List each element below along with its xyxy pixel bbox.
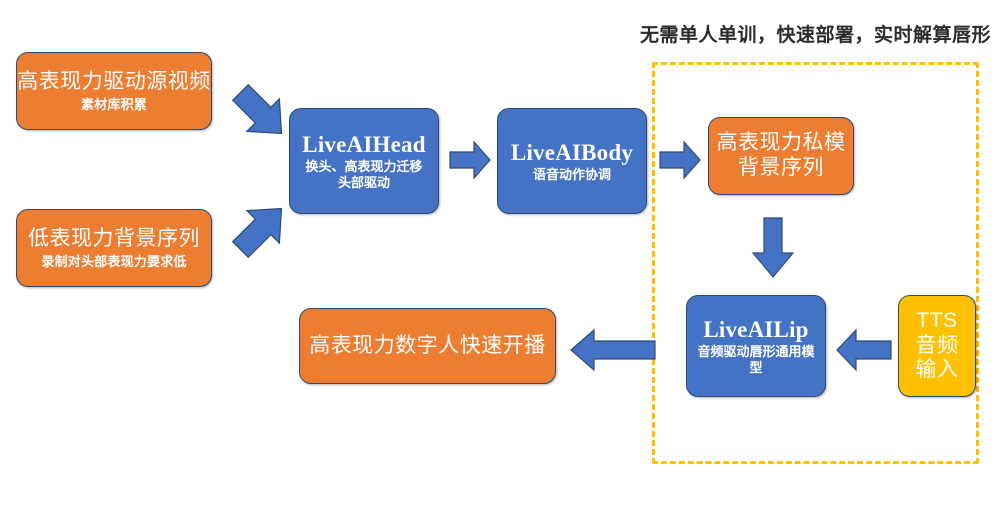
arrow-left-icon-lip-to-output	[570, 327, 656, 373]
node-liveaihead-title: LiveAIHead	[302, 131, 425, 158]
node-source-video-title: 高表现力驱动源视频	[17, 70, 211, 95]
node-tts-audio-input[interactable]: TTS音频输入	[898, 295, 976, 397]
node-fast-live-output[interactable]: 高表现力数字人快速开播	[299, 308, 556, 384]
node-liveaihead-subtitle-line1: 换头、高表现力迁移	[305, 159, 422, 175]
node-liveailip[interactable]: LiveAILip 音频驱动唇形通用模型	[686, 295, 826, 397]
arrow-left-icon-tts-to-lip	[836, 327, 892, 373]
arrow-right-icon-head-to-body	[449, 141, 491, 179]
node-liveaibody-subtitle: 语音动作协调	[533, 167, 611, 183]
arrow-down-icon	[751, 217, 795, 279]
node-liveailip-subtitle: 音频驱动唇形通用模型	[695, 344, 817, 377]
diagram-canvas: 无需单人单训，快速部署，实时解算唇形 高表现力驱动源视频 素材库积累 低表现力背…	[0, 0, 1000, 522]
node-source-video[interactable]: 高表现力驱动源视频 素材库积累	[16, 52, 212, 130]
header-note: 无需单人单训，快速部署，实时解算唇形	[640, 20, 991, 47]
node-background-sequence-title: 低表现力背景序列	[28, 227, 200, 252]
node-private-model-bg-title-line2: 背景序列	[738, 156, 824, 181]
node-liveaibody-title: LiveAIBody	[511, 139, 633, 166]
node-private-model-bg[interactable]: 高表现力私模 背景序列	[708, 117, 854, 195]
arrow-right-icon-body-to-private-model	[659, 141, 701, 179]
node-liveaibody[interactable]: LiveAIBody 语音动作协调	[497, 108, 647, 214]
node-liveaihead[interactable]: LiveAIHead 换头、高表现力迁移 头部驱动	[289, 108, 439, 214]
node-background-sequence[interactable]: 低表现力背景序列 录制对头部表现力要求低	[16, 209, 212, 287]
node-liveaihead-subtitle-line2: 头部驱动	[338, 175, 390, 191]
node-background-sequence-subtitle: 录制对头部表现力要求低	[41, 254, 186, 269]
node-liveailip-title: LiveAILip	[703, 316, 808, 343]
node-fast-live-output-title: 高表现力数字人快速开播	[309, 334, 546, 359]
node-private-model-bg-title-line1: 高表现力私模	[717, 131, 846, 156]
node-source-video-subtitle: 素材库积累	[81, 97, 147, 112]
arrow-up-right-icon	[228, 198, 294, 260]
arrow-down-right-icon	[228, 82, 294, 144]
node-tts-audio-input-title: TTS音频输入	[907, 309, 967, 383]
